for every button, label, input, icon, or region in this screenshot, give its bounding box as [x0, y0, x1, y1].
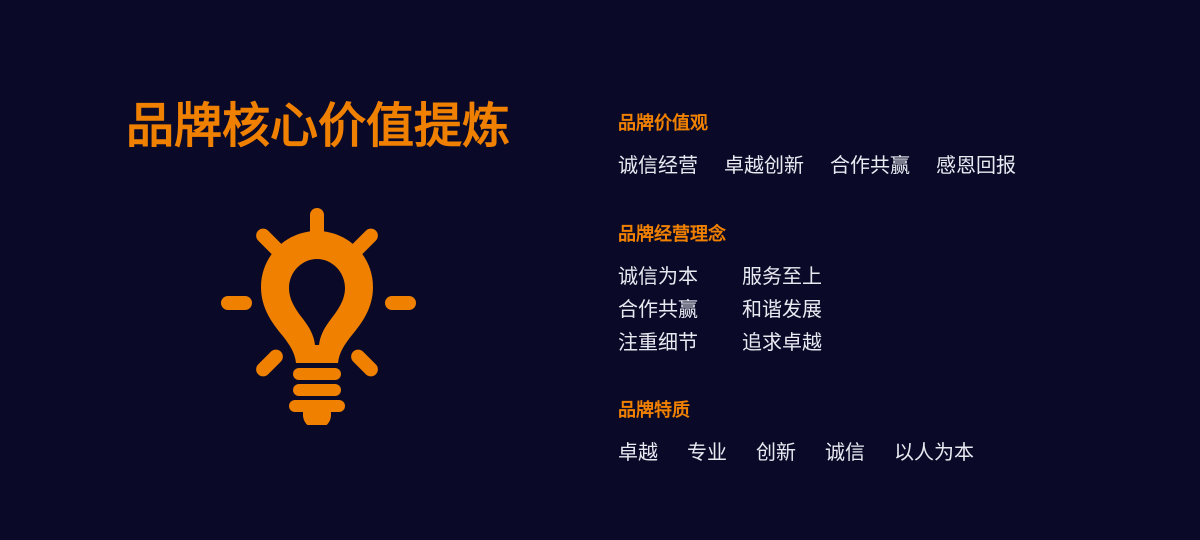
- item-row: 卓越 专业 创新 诚信 以人为本: [618, 441, 974, 465]
- ray-left: [221, 296, 252, 310]
- list-item: 卓越创新: [724, 154, 804, 178]
- bulb-glass: [261, 231, 373, 363]
- list-item: 合作共赢: [618, 298, 712, 322]
- list-item: 专业: [687, 441, 727, 465]
- section-heading-brand-philosophy: 品牌经营理念: [618, 223, 822, 245]
- list-item: 诚信经营: [618, 154, 698, 178]
- ray-bottom-left: [253, 347, 286, 380]
- list-item: 创新: [756, 441, 796, 465]
- base-tip: [303, 412, 331, 425]
- list-item: 服务至上: [742, 265, 822, 289]
- section-brand-traits: 品牌特质 卓越 专业 创新 诚信 以人为本: [618, 399, 974, 465]
- item-row: 诚信经营 卓越创新 合作共赢 感恩回报: [618, 154, 1016, 178]
- base-stripe-3: [289, 400, 345, 412]
- list-item: 感恩回报: [936, 154, 1016, 178]
- slide-canvas: 品牌核心价值提炼: [0, 0, 1200, 540]
- ray-bottom-right: [348, 347, 381, 380]
- item-row: 注重细节 追求卓越: [618, 331, 822, 355]
- list-item: 以人为本: [894, 441, 974, 465]
- right-panel: 品牌价值观 诚信经营 卓越创新 合作共赢 感恩回报 品牌经营理念 诚信为本 服务…: [618, 0, 1178, 540]
- list-item: 合作共赢: [830, 154, 910, 178]
- ray-right: [385, 296, 416, 310]
- base-stripe-1: [293, 368, 341, 380]
- list-item: 和谐发展: [742, 298, 822, 322]
- section-brand-philosophy: 品牌经营理念 诚信为本 服务至上 合作共赢 和谐发展 注重细节 追求卓越: [618, 223, 822, 355]
- item-row: 诚信为本 服务至上: [618, 265, 822, 289]
- list-item: 追求卓越: [742, 331, 822, 355]
- left-panel: 品牌核心价值提炼: [0, 0, 600, 540]
- section-heading-brand-values: 品牌价值观: [618, 112, 1016, 134]
- section-heading-brand-traits: 品牌特质: [618, 399, 974, 421]
- base-stripe-2: [293, 384, 341, 396]
- list-item: 诚信为本: [618, 265, 712, 289]
- list-item: 注重细节: [618, 331, 712, 355]
- page-title: 品牌核心价值提炼: [126, 103, 510, 151]
- section-brand-values: 品牌价值观 诚信经营 卓越创新 合作共赢 感恩回报: [618, 112, 1016, 178]
- list-item: 诚信: [825, 441, 865, 465]
- list-item: 卓越: [618, 441, 658, 465]
- lightbulb-icon: [210, 195, 430, 425]
- item-row: 合作共赢 和谐发展: [618, 298, 822, 322]
